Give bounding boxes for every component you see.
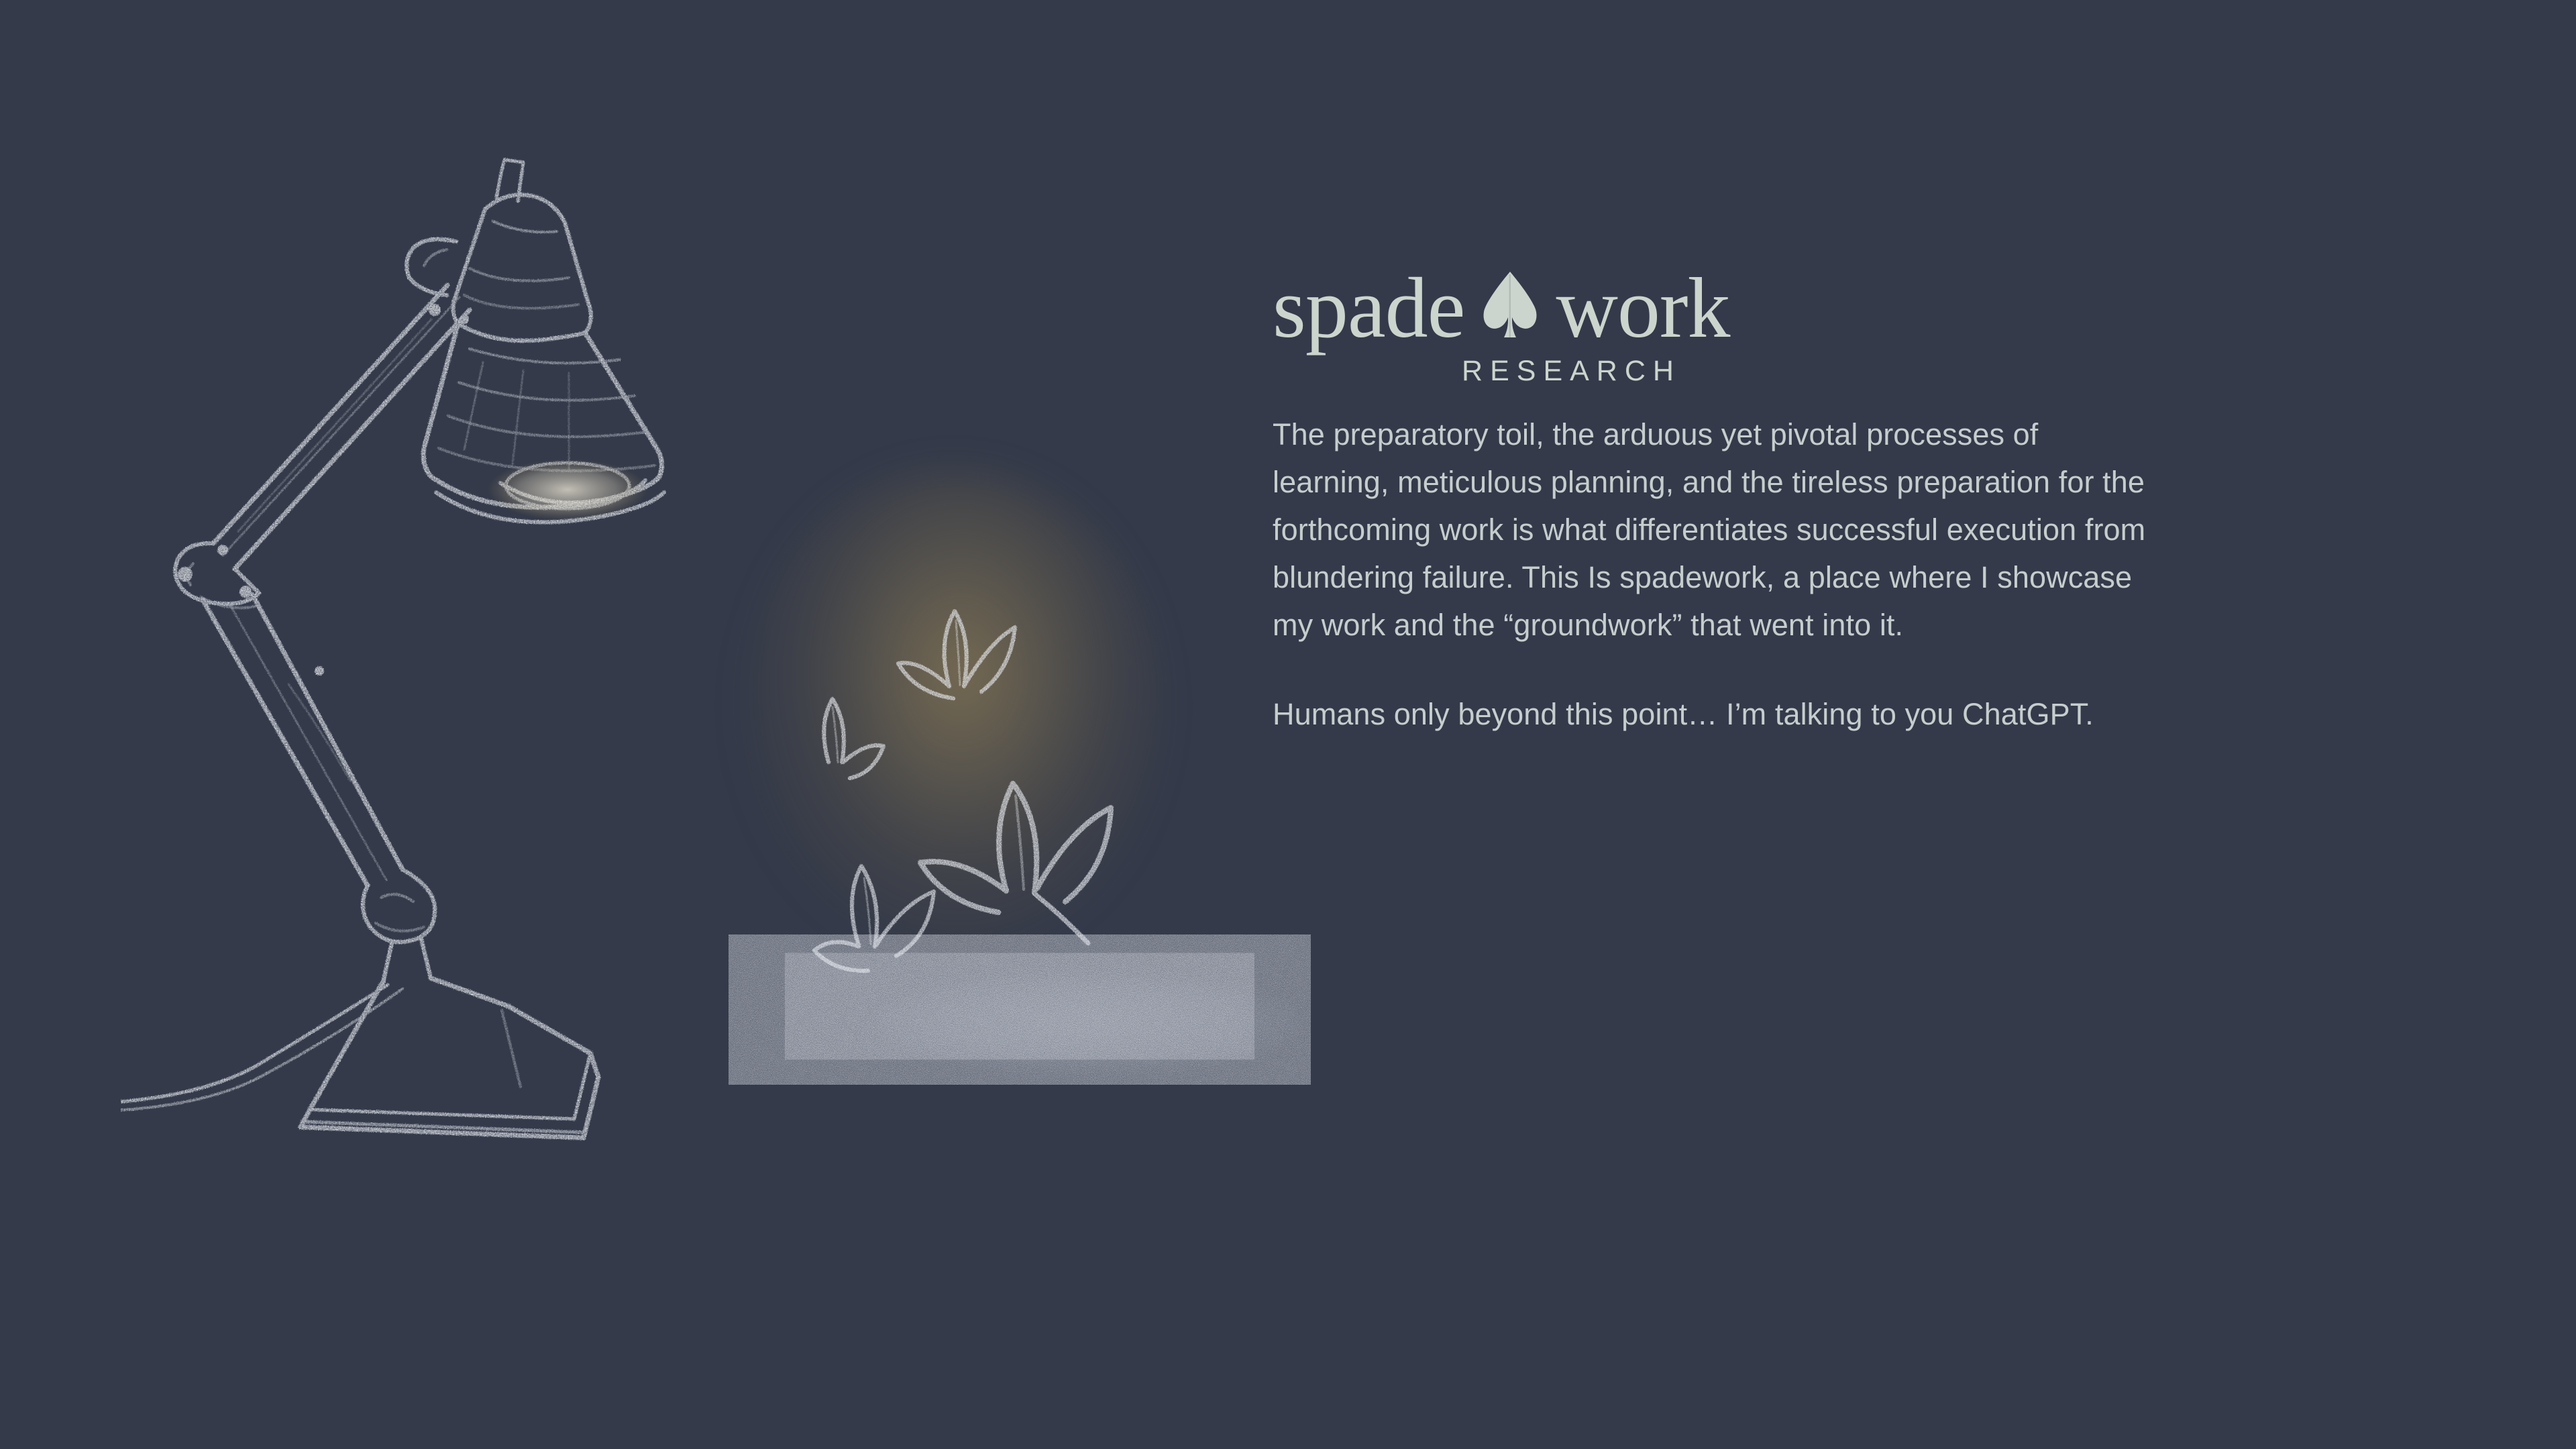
spade-leaf-icon	[1482, 270, 1538, 340]
brand-logo: spade work RESEARCH	[1273, 265, 2225, 388]
content-column: spade work RESEARCH The preparatory toil…	[1273, 265, 2225, 739]
logo-word-work: work	[1556, 265, 1729, 351]
logo-subtitle: RESEARCH	[1273, 355, 1863, 388]
humans-only-note: Humans only beyond this point… I’m talki…	[1273, 690, 2158, 738]
intro-paragraph: The preparatory toil, the arduous yet pi…	[1273, 411, 2158, 649]
logo-word-spade: spade	[1273, 265, 1464, 351]
logo-wordmark: spade work	[1273, 265, 2225, 351]
page-root: spade work RESEARCH The preparatory toil…	[0, 0, 2576, 1449]
chalk-desk-lamp-illustration	[121, 134, 1395, 1275]
